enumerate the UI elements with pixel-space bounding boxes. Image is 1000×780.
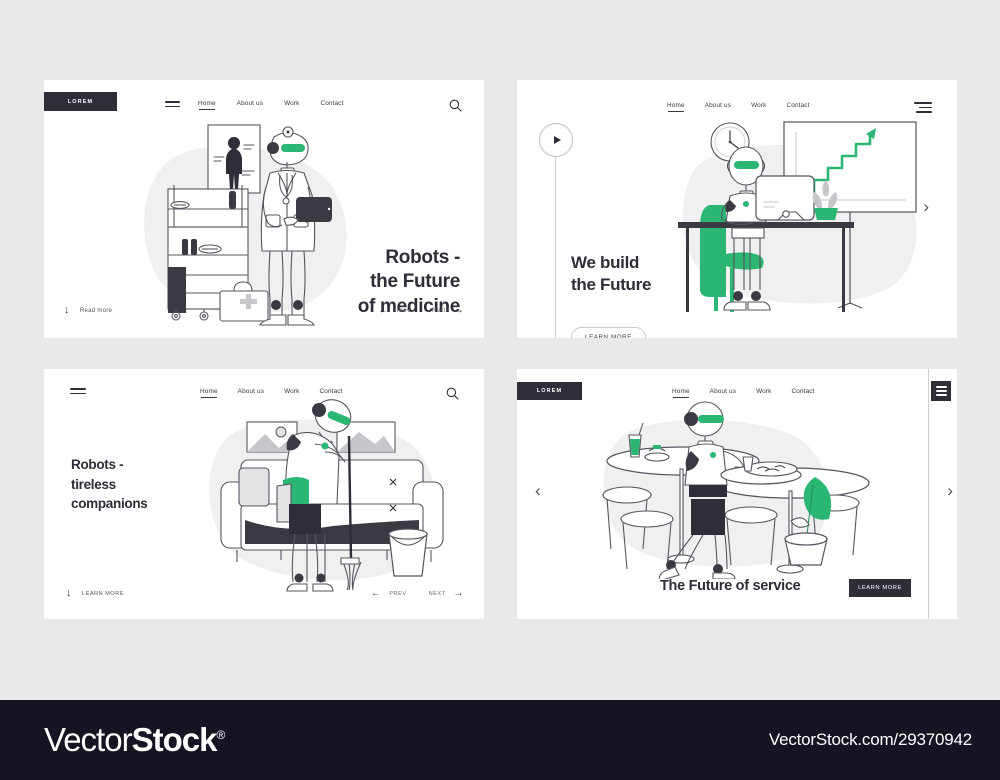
arrow-down-icon: ↓ bbox=[66, 588, 72, 599]
learn-more-label: LEARN MORE bbox=[858, 585, 902, 591]
page-title: Robots - tireless companions bbox=[71, 455, 148, 514]
landing-page-panel-4: LOREM Home About us Work Contact ‹ › bbox=[517, 369, 957, 619]
read-more-label: Read more bbox=[80, 308, 112, 314]
landing-page-panel-1: LOREM Home About us Work Contact bbox=[44, 80, 484, 338]
headline-line: the Future bbox=[358, 270, 460, 294]
vertical-divider bbox=[555, 157, 556, 338]
hamburger-bar bbox=[936, 386, 947, 388]
slider-controls: ← Prev Next → bbox=[378, 306, 464, 316]
chevron-right-icon[interactable]: › bbox=[947, 482, 953, 499]
vectorstock-footer: VectorStock® VectorStock.com/29370942 bbox=[0, 700, 1000, 780]
arrow-down-icon: ↓ bbox=[64, 305, 70, 316]
logo-text: LOREM bbox=[537, 388, 562, 394]
page-title: The Future of service bbox=[660, 577, 800, 596]
hamburger-bar bbox=[70, 393, 86, 395]
logo-badge[interactable]: LOREM bbox=[517, 382, 582, 400]
headline-line: companions bbox=[71, 494, 148, 514]
nav-item-contact[interactable]: Contact bbox=[321, 100, 344, 110]
nav-item-about-us[interactable]: About us bbox=[237, 100, 263, 110]
nav-item-home[interactable]: Home bbox=[198, 100, 216, 110]
hamburger-icon[interactable] bbox=[165, 101, 180, 107]
hamburger-bar bbox=[70, 388, 86, 390]
hamburger-bar bbox=[936, 394, 947, 396]
learn-more-button[interactable]: LEARN MORE bbox=[571, 327, 646, 338]
hamburger-icon[interactable] bbox=[931, 381, 951, 401]
vertical-divider bbox=[928, 369, 929, 619]
slider-controls: ← PREV NEXT → bbox=[371, 589, 464, 599]
page-title: We build the Future bbox=[571, 252, 651, 296]
logo-text: LOREM bbox=[68, 99, 93, 105]
hamburger-bar bbox=[914, 102, 932, 104]
hamburger-icon[interactable] bbox=[70, 388, 86, 394]
arrow-left-icon[interactable]: ← bbox=[371, 589, 382, 599]
hamburger-bar bbox=[919, 107, 932, 109]
headline-line: We build bbox=[571, 252, 651, 274]
arrow-right-icon[interactable]: → bbox=[454, 589, 465, 599]
brand-light: Vector bbox=[44, 721, 132, 758]
hamburger-bar bbox=[936, 390, 947, 392]
headline-line: Robots - bbox=[71, 455, 148, 475]
vectorstock-logo: VectorStock® bbox=[44, 721, 224, 759]
nav-item-about-us[interactable]: About us bbox=[710, 388, 736, 398]
illustration-office-robot bbox=[672, 110, 932, 330]
main-nav: Home About us Work Contact bbox=[198, 100, 344, 110]
hamburger-bar bbox=[165, 106, 180, 108]
next-label[interactable]: NEXT bbox=[429, 591, 446, 597]
main-nav: Home About us Work Contact bbox=[672, 388, 815, 398]
next-label[interactable]: Next bbox=[432, 308, 446, 314]
hamburger-bar bbox=[165, 101, 180, 103]
headline-line: tireless bbox=[71, 475, 148, 495]
arrow-right-icon[interactable]: → bbox=[454, 306, 464, 316]
brand-bold: Stock bbox=[132, 721, 217, 758]
learn-more-label: LEARN MORE bbox=[585, 334, 632, 338]
logo-badge[interactable]: LOREM bbox=[44, 92, 117, 111]
chevron-left-icon[interactable]: ‹ bbox=[535, 482, 541, 499]
headline-line: the Future bbox=[571, 274, 651, 296]
play-icon bbox=[554, 136, 561, 144]
prev-label[interactable]: PREV bbox=[389, 591, 406, 597]
nav-item-work[interactable]: Work bbox=[756, 388, 771, 398]
nav-item-contact[interactable]: Contact bbox=[792, 388, 815, 398]
illustration-cleaning-robot bbox=[197, 394, 462, 594]
prev-label[interactable]: Prev bbox=[397, 308, 411, 314]
illustration-waiter-robot bbox=[585, 399, 875, 579]
learn-more-link[interactable]: ↓ LEARN MORE bbox=[66, 588, 124, 599]
registered-mark: ® bbox=[216, 728, 224, 742]
nav-item-home[interactable]: Home bbox=[672, 388, 690, 398]
learn-more-button[interactable]: LEARN MORE bbox=[849, 579, 911, 597]
nav-item-work[interactable]: Work bbox=[284, 100, 299, 110]
screenshot-stage: LOREM Home About us Work Contact bbox=[0, 0, 1000, 700]
arrow-left-icon[interactable]: ← bbox=[378, 306, 388, 316]
read-more-link[interactable]: ↓ Read more bbox=[64, 305, 112, 316]
illustration-doctor-robot bbox=[130, 115, 380, 335]
learn-more-label: LEARN MORE bbox=[82, 591, 124, 597]
landing-page-panel-3: Home About us Work Contact Robots - tire… bbox=[44, 369, 484, 619]
headline-line: Robots - bbox=[358, 246, 460, 270]
play-button[interactable] bbox=[539, 123, 573, 157]
vectorstock-url: VectorStock.com/29370942 bbox=[769, 730, 972, 750]
landing-page-panel-2: Home About us Work Contact We build the … bbox=[517, 80, 957, 338]
search-icon[interactable] bbox=[449, 99, 462, 112]
